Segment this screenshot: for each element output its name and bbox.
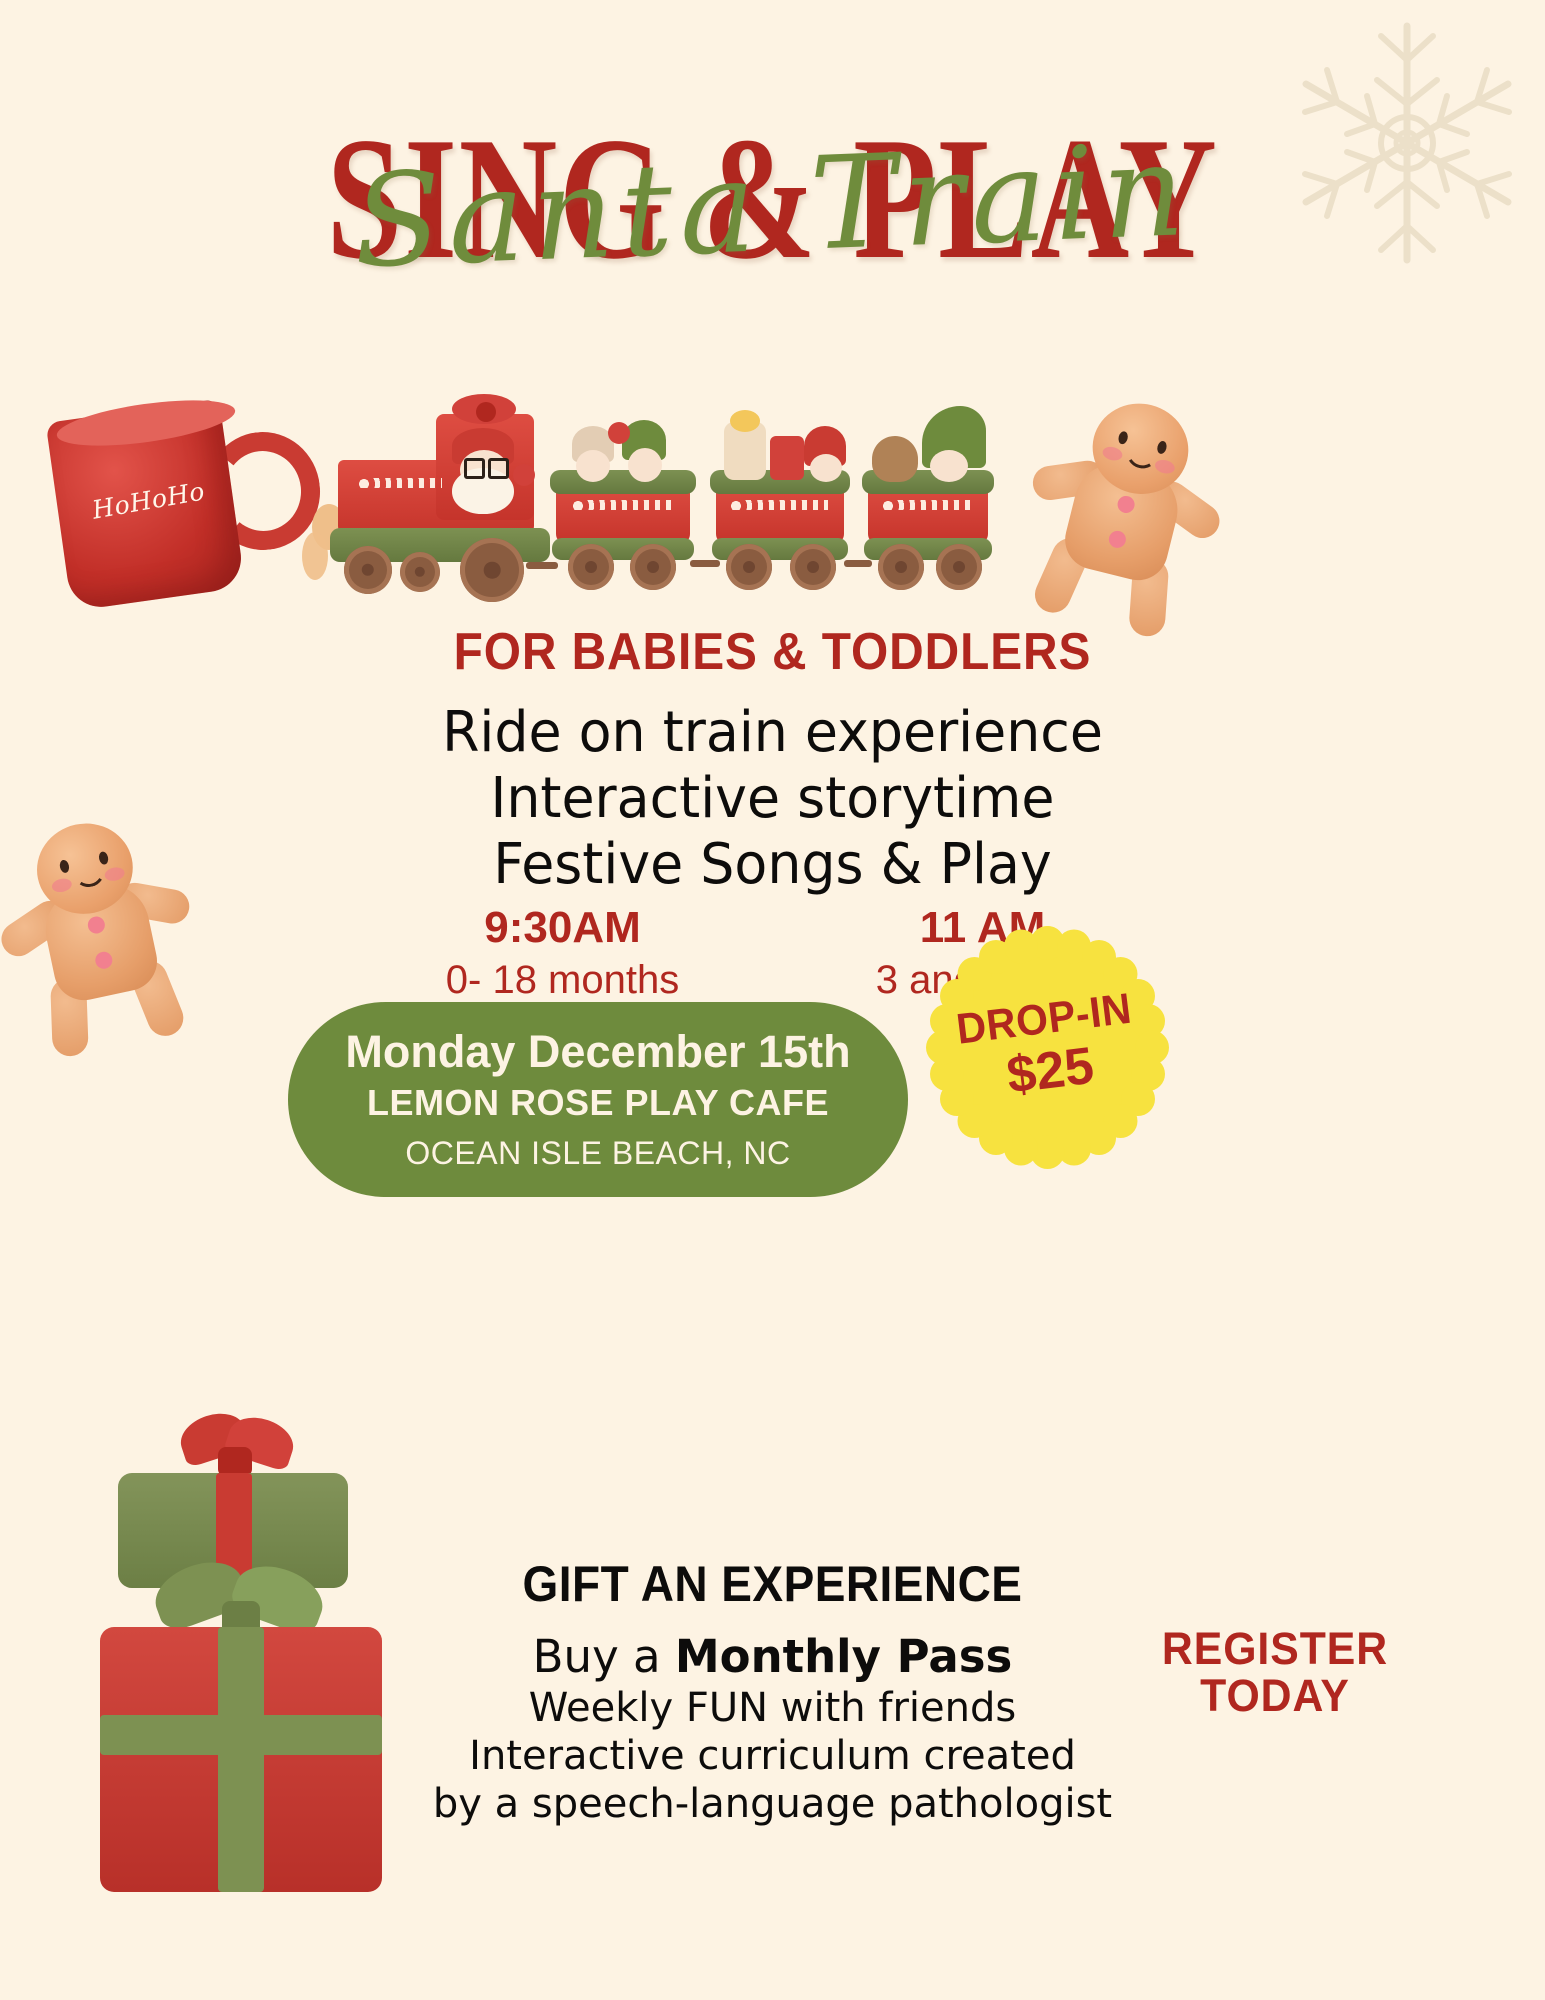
event-venue: LEMON ROSE PLAY CAFE	[367, 1082, 829, 1123]
session-1-ages: 0- 18 months	[413, 955, 713, 1005]
register-cta-line-2: TODAY	[1137, 1672, 1413, 1719]
audience-heading: FOR BABIES & TODDLERS	[62, 622, 1483, 682]
cocoa-mug-icon: HoHoHo	[30, 398, 280, 623]
session-1: 9:30AM 0- 18 months	[413, 900, 713, 1005]
gift-line-1-bold: Monthly Pass	[675, 1630, 1012, 1683]
feature-list: Ride on train experience Interactive sto…	[0, 700, 1545, 898]
event-date: Monday December 15th	[345, 1027, 850, 1077]
gift-line-1-prefix: Buy a	[533, 1630, 675, 1683]
gift-line-4: by a speech-language pathologist	[0, 1780, 1545, 1828]
session-1-time: 9:30AM	[413, 900, 713, 955]
gift-line-3: Interactive curriculum created	[0, 1732, 1545, 1780]
feature-line-2: Interactive storytime	[31, 766, 1514, 832]
badge-dropin-label: DROP-IN	[954, 986, 1134, 1052]
register-cta-line-1: REGISTER	[1137, 1625, 1413, 1672]
event-location: OCEAN ISLE BEACH, NC	[405, 1135, 790, 1172]
price-badge: DROP-IN $25	[925, 925, 1170, 1170]
santa-train-illustration	[300, 392, 940, 602]
event-banner: Monday December 15th LEMON ROSE PLAY CAF…	[288, 1002, 908, 1197]
flyer-canvas: SING & PLAY Santa Train HoHoHo	[0, 0, 1545, 2000]
page-title: SING & PLAY	[0, 118, 1545, 279]
gingerbread-right-icon	[1005, 380, 1245, 649]
title-main-text: SING & PLAY	[170, 118, 1375, 279]
feature-line-3: Festive Songs & Play	[31, 832, 1514, 898]
session-times: 9:30AM 0- 18 months 11 AM 3 and under	[0, 900, 1545, 1005]
feature-line-1: Ride on train experience	[31, 700, 1514, 766]
register-cta[interactable]: REGISTER TODAY	[1137, 1625, 1413, 1720]
badge-price: $25	[1004, 1039, 1097, 1104]
gift-heading: GIFT AN EXPERIENCE	[62, 1555, 1483, 1613]
